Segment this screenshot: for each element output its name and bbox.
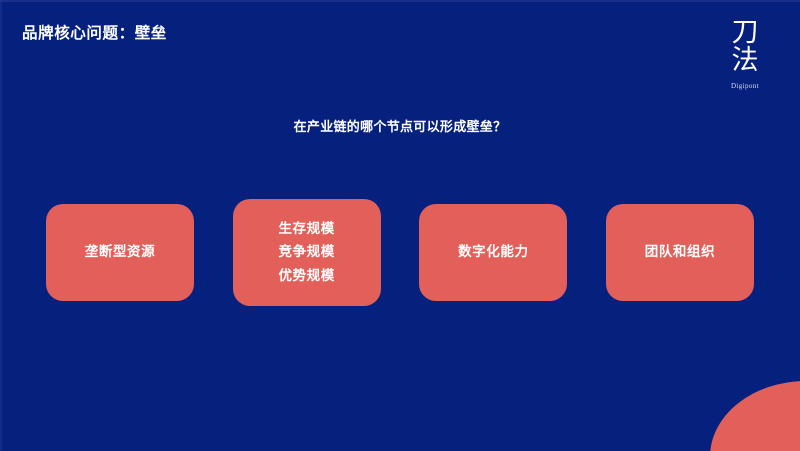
- logo-mark-char-2: 法: [714, 46, 776, 74]
- barrier-card-1: 垄断型资源: [46, 204, 194, 301]
- barrier-card-2-line-3: 优势规模: [278, 264, 334, 287]
- barrier-card-4-line-1: 团队和组织: [645, 240, 716, 263]
- logo-mark: 刀 法: [714, 18, 776, 75]
- logo-mark-char-1: 刀: [714, 18, 776, 46]
- barrier-card-2-line-1: 生存规模: [278, 217, 334, 240]
- page-title: 品牌核心问题：壁垒: [22, 21, 167, 43]
- logo-wordmark: Digipont: [714, 82, 776, 90]
- barrier-card-1-line-1: 垄断型资源: [85, 240, 156, 263]
- corner-arc-decoration: [710, 381, 800, 451]
- barrier-card-3: 数字化能力: [419, 204, 567, 301]
- barrier-card-3-line-1: 数字化能力: [458, 240, 529, 263]
- slide-canvas: 品牌核心问题：壁垒 刀 法 Digipont 在产业链的哪个节点可以形成壁垒？ …: [0, 0, 800, 451]
- barrier-card-2-line-2: 竞争规模: [278, 240, 334, 263]
- barrier-card-4: 团队和组织: [606, 204, 754, 301]
- question-text: 在产业链的哪个节点可以形成壁垒？: [0, 116, 800, 135]
- barrier-card-row: 垄断型资源 生存规模 竞争规模 优势规模 数字化能力 团队和组织: [46, 197, 754, 307]
- barrier-card-2: 生存规模 竞争规模 优势规模: [233, 199, 381, 306]
- brand-logo: 刀 法 Digipont: [714, 18, 776, 90]
